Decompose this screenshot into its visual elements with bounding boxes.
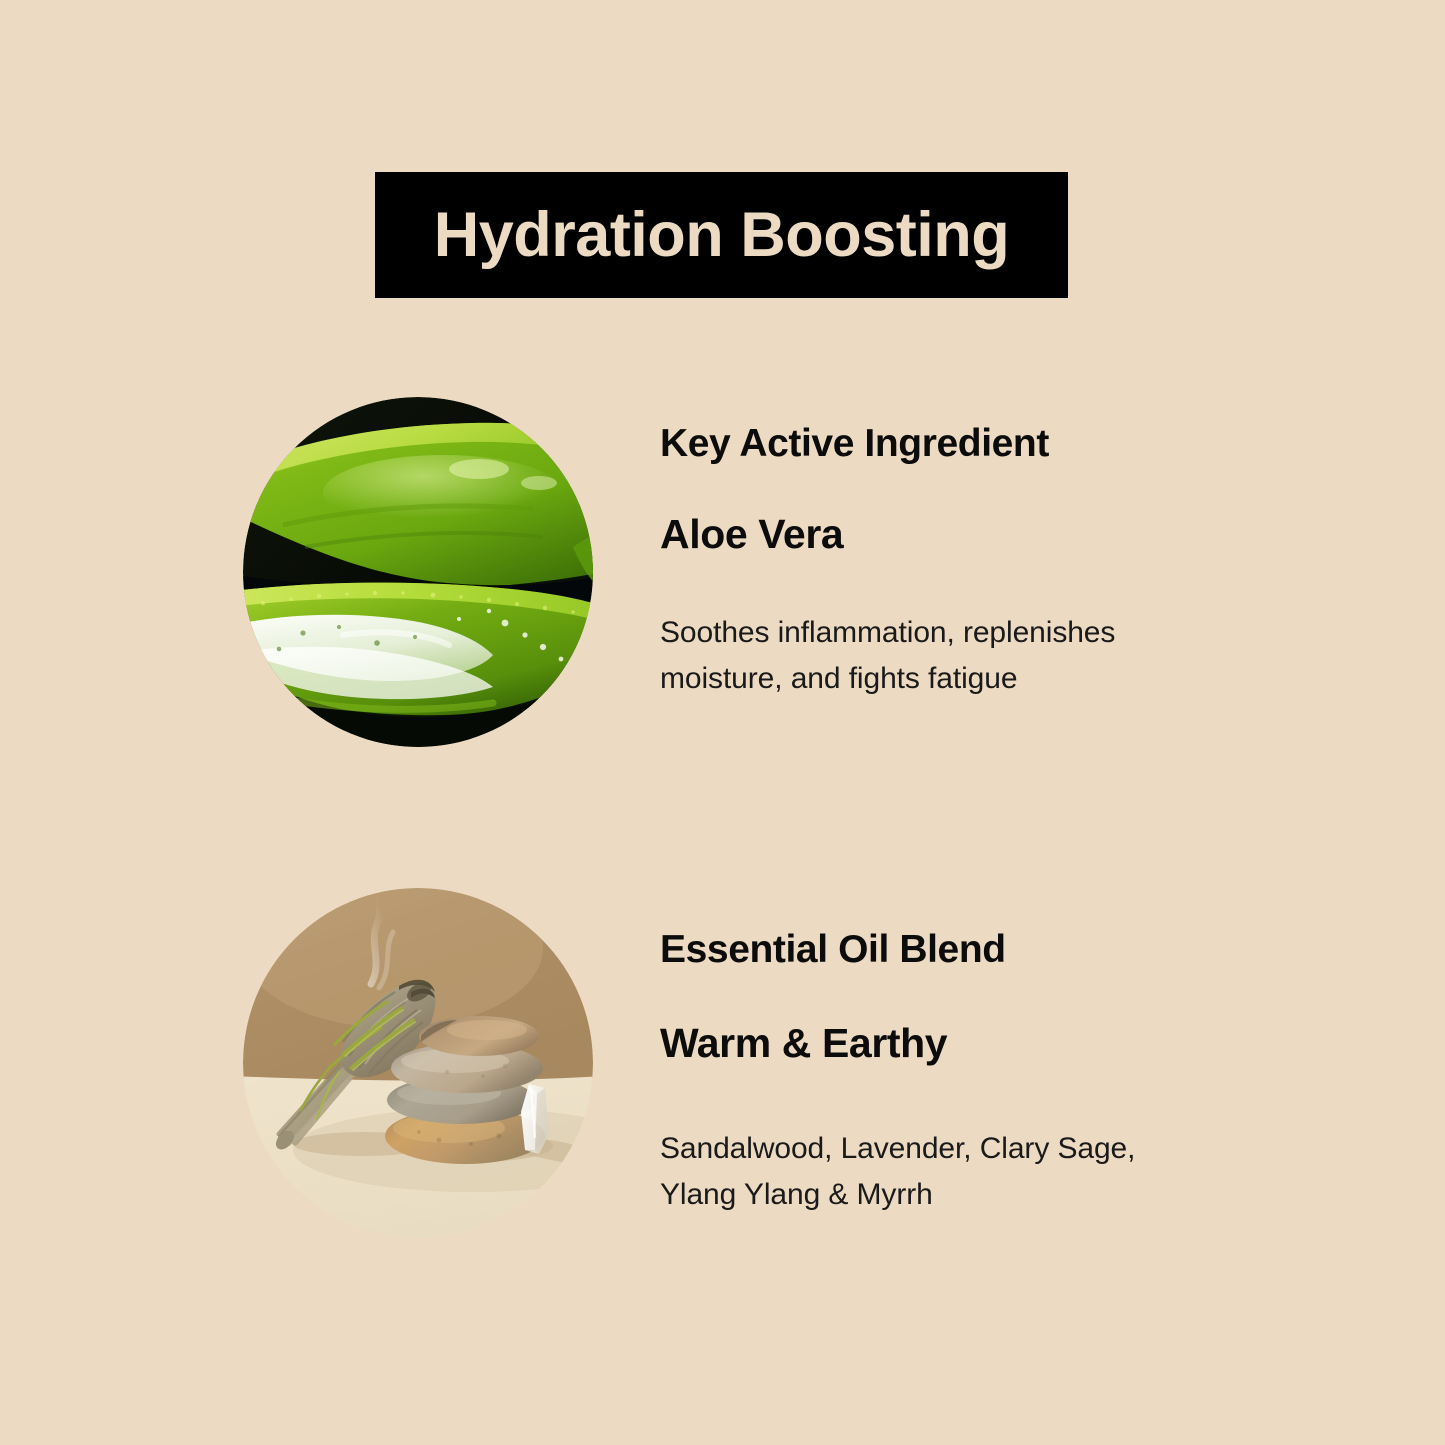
feature-eyebrow: Key Active Ingredient bbox=[660, 422, 1049, 466]
feature-headline: Warm & Earthy bbox=[660, 1021, 947, 1067]
smudge-stick-stacked-stones-photo bbox=[243, 888, 593, 1238]
aloe-vera-sliced-leaves-photo bbox=[243, 397, 593, 747]
page-title-banner: Hydration Boosting bbox=[375, 172, 1068, 298]
page-title: Hydration Boosting bbox=[434, 204, 1009, 267]
feature-description: Sandalwood, Lavender, Clary Sage, Ylang … bbox=[660, 1126, 1200, 1217]
feature-headline: Aloe Vera bbox=[660, 512, 843, 558]
feature-eyebrow: Essential Oil Blend bbox=[660, 928, 1006, 972]
feature-description: Soothes inflammation, replenishes moistu… bbox=[660, 610, 1200, 701]
